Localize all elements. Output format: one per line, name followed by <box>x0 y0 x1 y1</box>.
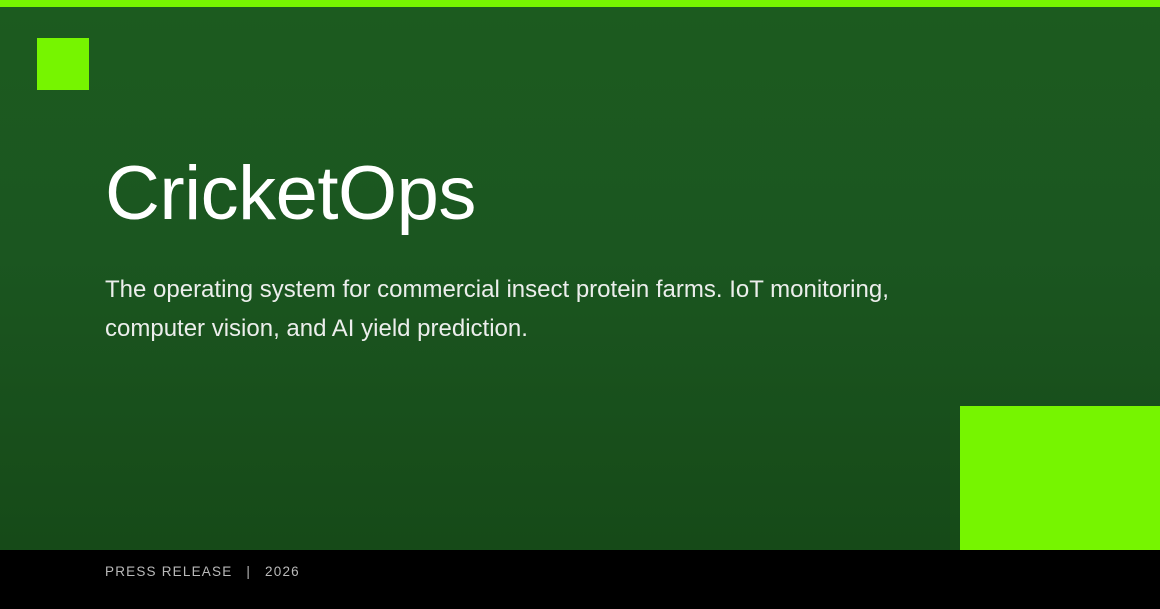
slide-subtitle: The operating system for commercial inse… <box>105 270 905 348</box>
accent-square-decoration <box>37 38 89 90</box>
footer-label: PRESS RELEASE <box>105 564 232 579</box>
footer-meta: PRESS RELEASE | 2026 <box>105 564 300 579</box>
footer-separator: | <box>237 564 260 579</box>
footer-year: 2026 <box>265 564 300 579</box>
top-accent-bar <box>0 0 1160 7</box>
footer-bar <box>0 550 1160 609</box>
page-title: CricketOps <box>105 156 476 232</box>
accent-block-decoration <box>960 406 1160 550</box>
presentation-slide: CricketOps The operating system for comm… <box>0 0 1160 609</box>
